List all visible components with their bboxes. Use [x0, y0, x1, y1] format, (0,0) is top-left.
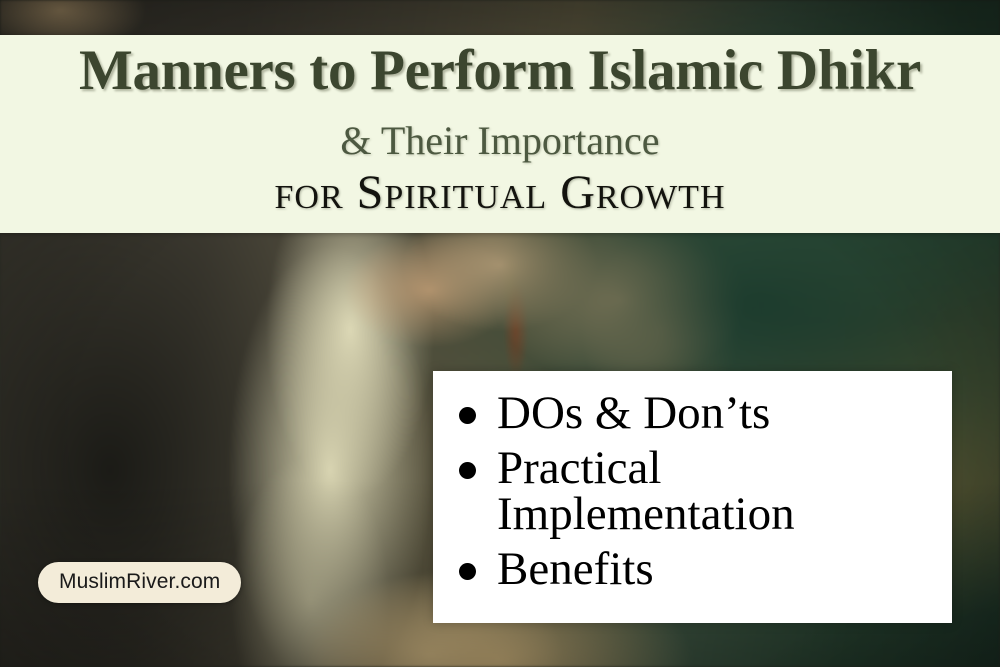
list-item-label: Benefits	[497, 546, 938, 593]
site-watermark: MuslimRiver.com	[38, 562, 241, 603]
list-item: Practical Implementation	[459, 445, 938, 538]
bullet-dot-icon	[459, 462, 476, 479]
page-tagline: for Spiritual Growth	[0, 168, 1000, 218]
list-item-label: DOs & Don’ts	[497, 390, 938, 437]
page-title: Manners to Perform Islamic Dhikr	[0, 41, 1000, 101]
poster-canvas: Manners to Perform Islamic Dhikr & Their…	[0, 0, 1000, 667]
list-item-label: Practical Implementation	[497, 445, 938, 538]
bullet-dot-icon	[459, 563, 476, 580]
bullet-list: DOs & Don’ts Practical Implementation Be…	[433, 371, 952, 592]
page-subtitle: & Their Importance	[0, 119, 1000, 163]
bullet-dot-icon	[459, 407, 476, 424]
list-item: Benefits	[459, 546, 938, 593]
header-band: Manners to Perform Islamic Dhikr & Their…	[0, 35, 1000, 233]
bullet-card: DOs & Don’ts Practical Implementation Be…	[433, 371, 952, 623]
list-item: DOs & Don’ts	[459, 390, 938, 437]
